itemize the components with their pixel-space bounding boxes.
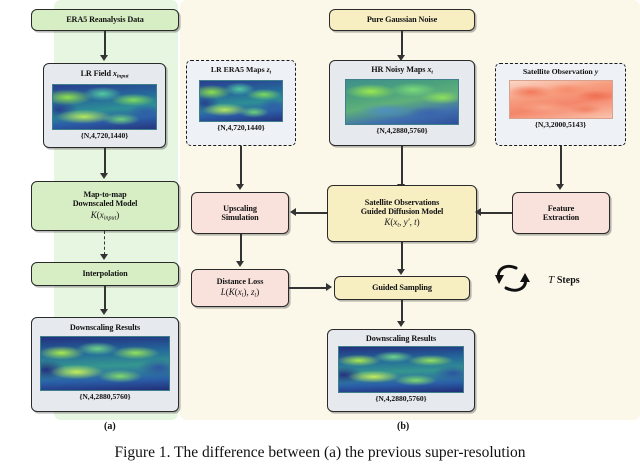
- arrow-head-a3: [100, 254, 108, 260]
- model-line2: Downscaled Model: [73, 199, 138, 208]
- results-b-thumbnail: [338, 346, 464, 393]
- pure-gaussian-noise-box[interactable]: Pure Gaussian Noise: [329, 9, 475, 31]
- results-b-shape: {N,4,2880,5760}: [375, 395, 426, 404]
- era5-label: ERA5 Reanalysis Data: [66, 15, 144, 24]
- arrow-line-b4: [560, 146, 562, 185]
- results-a-shape: {N,4,2880,5760}: [79, 393, 130, 402]
- figure-canvas: ERA5 Reanalysis Data LR Field xinput {N,…: [0, 0, 640, 470]
- results-a-thumbnail: [40, 336, 170, 391]
- feature-line2: Extraction: [543, 213, 579, 222]
- arrow-line-b9: [289, 287, 327, 289]
- t-steps-label: T Steps: [548, 274, 580, 286]
- feature-extraction-box[interactable]: Feature Extraction: [512, 192, 610, 234]
- figure-caption: Figure 1. The difference between (a) the…: [0, 444, 640, 462]
- lr-field-box[interactable]: LR Field xinput {N,4,720,1440}: [43, 63, 166, 148]
- lr-maps-shape: {N,4,720,1440}: [217, 124, 265, 133]
- upscaling-line1: Upscaling: [223, 204, 257, 213]
- downscaling-results-b-box[interactable]: Downscaling Results {N,4,2880,5760}: [327, 329, 475, 412]
- model-line1: Map-to-map: [83, 190, 126, 199]
- arrow-head-b9: [326, 283, 332, 291]
- arrow-head-b5: [290, 208, 296, 216]
- arrow-line-b1: [401, 31, 403, 56]
- arrow-line-b5: [296, 212, 327, 214]
- arrow-line-b8: [401, 242, 403, 270]
- arrow-line-a1: [104, 31, 106, 56]
- hr-noisy-maps-box[interactable]: HR Noisy Maps xt {N,4,2880,5760}: [329, 60, 475, 146]
- diffusion-line1: Satellite Observations: [365, 198, 439, 207]
- satellite-observation-box[interactable]: Satellite Observation y {N,3,2000,5143}: [495, 63, 626, 146]
- feature-line1: Feature: [548, 204, 574, 213]
- lr-maps-title: LR ERA5 Maps zt: [211, 66, 271, 76]
- hr-noisy-title: HR Noisy Maps xt: [371, 65, 433, 76]
- arrow-head-b2: [236, 184, 244, 190]
- era5-reanalysis-data-box[interactable]: ERA5 Reanalysis Data: [31, 9, 179, 31]
- satellite-shape: {N,3,2000,5143}: [535, 121, 586, 130]
- upscaling-simulation-box[interactable]: Upscaling Simulation: [191, 192, 289, 234]
- arrow-head-a4: [100, 309, 108, 315]
- diffusion-formula: K(xt, y′, t): [384, 217, 419, 229]
- interpolation-box[interactable]: Interpolation: [31, 262, 179, 286]
- arrow-head-b4: [556, 184, 564, 190]
- arrow-head-b10: [397, 321, 405, 327]
- distance-loss-title: Distance Loss: [217, 277, 264, 286]
- distance-loss-formula: L(K(xt), zt): [221, 287, 259, 299]
- arrow-head-b7: [236, 261, 244, 267]
- upscaling-line2: Simulation: [221, 213, 258, 222]
- panel-a-label: (a): [104, 421, 116, 432]
- arrow-line-a4: [104, 286, 106, 310]
- arrow-line-b6: [481, 212, 512, 214]
- hr-noisy-thumbnail: [345, 79, 459, 125]
- satellite-thumbnail: [509, 80, 613, 119]
- noise-label: Pure Gaussian Noise: [367, 15, 437, 24]
- arrow-head-b6: [475, 208, 481, 216]
- guided-diffusion-model-box[interactable]: Satellite Observations Guided Diffusion …: [327, 185, 477, 242]
- arrow-line-b10: [401, 300, 403, 322]
- arrow-line-b7: [240, 234, 242, 262]
- lr-field-shape: {N,4,720,1440}: [81, 132, 129, 141]
- arrow-line-a2: [104, 148, 106, 174]
- guided-sampling-label: Guided Sampling: [372, 283, 432, 292]
- results-b-title: Downscaling Results: [366, 334, 436, 343]
- distance-loss-box[interactable]: Distance Loss L(K(xt), zt): [191, 269, 289, 307]
- lr-maps-thumbnail: [199, 80, 283, 122]
- interpolation-label: Interpolation: [82, 269, 127, 278]
- arrow-line-b2: [240, 146, 242, 185]
- diffusion-line2: Guided Diffusion Model: [361, 207, 443, 216]
- arrow-line-a3-dashed: [104, 231, 105, 255]
- circular-arrow-icon: [494, 262, 540, 294]
- guided-sampling-box[interactable]: Guided Sampling: [334, 276, 470, 300]
- lr-field-subscript: input: [117, 73, 129, 79]
- arrow-head-b8: [397, 269, 405, 275]
- lr-era5-maps-box[interactable]: LR ERA5 Maps zt {N,4,720,1440}: [186, 60, 296, 146]
- map-to-map-model-box[interactable]: Map-to-map Downscaled Model K(xinput): [31, 181, 179, 231]
- arrow-head-a1: [100, 55, 108, 61]
- panel-b-label: (b): [397, 421, 409, 432]
- hr-noisy-shape: {N,4,2880,5760}: [376, 127, 427, 136]
- arrow-head-a2: [100, 173, 108, 179]
- model-formula: K(xinput): [91, 210, 120, 222]
- satellite-title: Satellite Observation y: [523, 68, 598, 77]
- lr-field-thumbnail: [52, 84, 157, 130]
- results-a-title: Downscaling Results: [70, 323, 140, 332]
- lr-field-title: LR Field xinput: [81, 69, 129, 80]
- arrow-line-b3: [401, 146, 403, 185]
- downscaling-results-a-box[interactable]: Downscaling Results {N,4,2880,5760}: [31, 317, 179, 412]
